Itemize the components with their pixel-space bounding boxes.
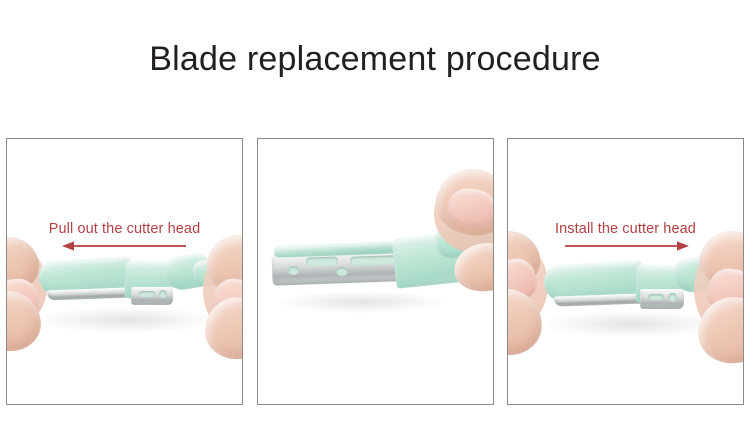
panel-install: Install the cutter head (507, 138, 744, 405)
panel-blade-exposed (257, 138, 494, 405)
blade-slot (139, 291, 155, 297)
panel-pull-out: Pull out the cutter head (6, 138, 243, 405)
page-title: Blade replacement procedure (0, 38, 750, 80)
blade-notch-2 (336, 267, 348, 276)
blade-notch (668, 293, 677, 302)
blade-slot-1 (305, 256, 337, 266)
panel-row: Pull out the cutter head (6, 138, 744, 405)
blade-notch (159, 290, 167, 298)
blade-notch-1 (288, 266, 299, 275)
cover-blade-edge (47, 288, 129, 301)
panel-install-illustration (508, 139, 743, 404)
blade-slot (648, 294, 664, 300)
panel-pull-out-illustration (7, 139, 242, 404)
blade-slot-2 (349, 255, 395, 266)
panel-blade-exposed-illustration (258, 139, 493, 404)
cover-blade-edge (554, 293, 646, 306)
